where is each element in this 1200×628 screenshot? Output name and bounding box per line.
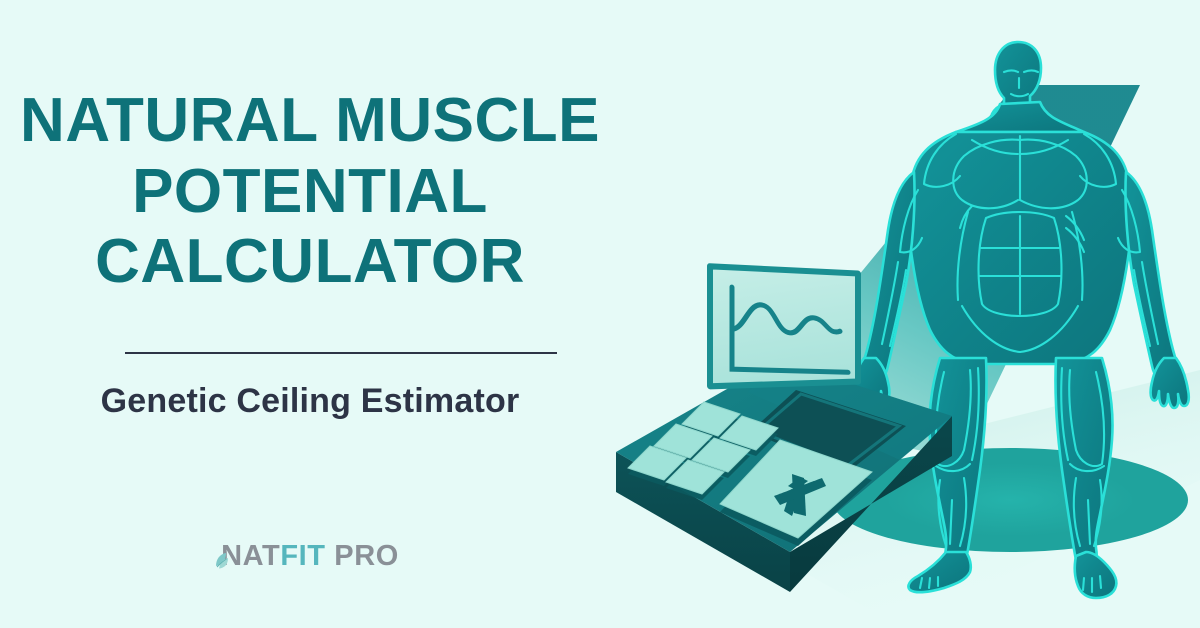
leaf-icon	[215, 550, 237, 570]
page-title-line-2: POTENTIAL	[0, 157, 620, 228]
logo-text-fit: FIT	[280, 540, 325, 572]
divider	[125, 352, 557, 354]
logo-leaf-wrap: NAT	[221, 540, 280, 573]
brand-logo: NAT FIT PRO	[0, 540, 620, 573]
page-title: NATURAL MUSCLE POTENTIAL CALCULATOR	[0, 86, 620, 298]
hologram-chart-screen[interactable]	[710, 254, 858, 405]
banner-root: NATURAL MUSCLE POTENTIAL CALCULATOR Gene…	[0, 0, 1200, 628]
page-title-line-1: NATURAL MUSCLE	[0, 86, 620, 157]
page-title-line-3: CALCULATOR	[0, 227, 620, 298]
logo-text-pro: PRO	[326, 540, 399, 572]
illustration	[600, 0, 1200, 628]
text-column: NATURAL MUSCLE POTENTIAL CALCULATOR Gene…	[0, 0, 620, 628]
page-subtitle: Genetic Ceiling Estimator	[0, 382, 620, 421]
